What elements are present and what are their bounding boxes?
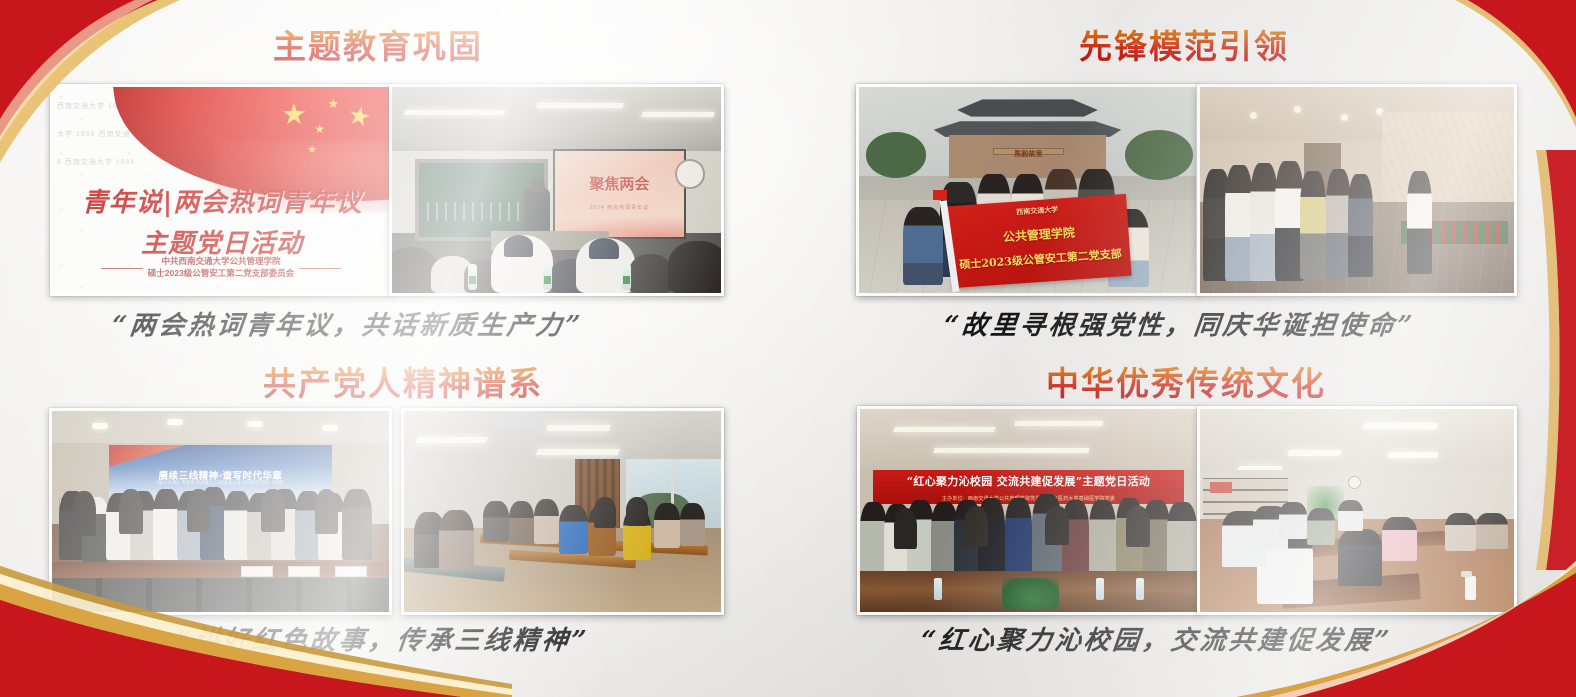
- poster-org-line1: 中共西南交通大学公共管理学院: [53, 255, 389, 267]
- visitor-figure: [1348, 174, 1373, 277]
- section-caption-4: “红心聚力沁校园，交流共建促发展”: [919, 620, 1394, 657]
- banner-line1: 公共管理学院: [949, 220, 1128, 249]
- spray-bottle: [1465, 576, 1476, 600]
- visitor-figure: [1225, 165, 1253, 280]
- screen-subtitle: 2024 两会热词青年议: [555, 204, 683, 211]
- wall-clock-icon: [1348, 476, 1361, 489]
- flag-star-icon: ★: [345, 101, 373, 131]
- slide-canvas: 主题教育巩固 先锋模范引领 共产党人精神谱系 中华优秀传统文化 西南交通大学 1…: [0, 0, 1576, 697]
- person-figure: [860, 502, 887, 575]
- ceiling-light: [415, 437, 488, 443]
- audience-group: [392, 219, 721, 293]
- lecture-hall-scene: [404, 411, 721, 612]
- person-figure: [903, 207, 943, 285]
- water-bottle: [934, 578, 942, 600]
- chair-row: [52, 578, 389, 612]
- audience-head: [504, 235, 534, 257]
- downlight: [1294, 106, 1301, 113]
- visitor-figure: [1250, 163, 1278, 280]
- poster-artwork: 西南交通大学 1896 西南交通大学 1896 西南交通大学 1896 西南交通…: [53, 87, 389, 293]
- ceiling-light: [536, 103, 623, 108]
- visitor-figure: [1338, 500, 1363, 530]
- student-figure: [483, 501, 508, 541]
- group-banner: 西南交通大学 公共管理学院 硕士2023级公管安工第二党支部: [947, 194, 1131, 289]
- person-figure: [315, 489, 339, 533]
- tree: [1125, 130, 1192, 179]
- exhibition-hall-scene: [1200, 87, 1514, 293]
- person-figure: [119, 489, 143, 533]
- staff-figure: [1279, 502, 1307, 539]
- banner-group-photo: “红心聚力沁校园 交流共建促发展”主题党日活动 主办单位：西南交通大学公共管理学…: [857, 406, 1200, 615]
- section-caption-3: “讲好红色故事，传承三线精神”: [174, 620, 591, 657]
- banner-line2: 硕士2023级公管安工第二党支部: [951, 245, 1130, 273]
- person-figure: [1167, 502, 1197, 575]
- person-figure: [1126, 506, 1150, 547]
- section-title-1: 主题教育巩固: [273, 20, 483, 68]
- screen-red-ribbon: [109, 445, 185, 466]
- banner-group-scene: “红心聚力沁校园 交流共建促发展”主题党日活动 主办单位：西南交通大学公共管理学…: [860, 409, 1197, 612]
- student-figure: [626, 497, 648, 525]
- poster-headline: 青年说|两会热词青年议 主题党日活动: [69, 182, 375, 260]
- tree: [866, 132, 927, 177]
- person-figure: [1089, 500, 1116, 575]
- screen-subtitle: 《复兴文库》专题系列讲座之三线建设与读书月系列活动（成都）: [109, 480, 331, 486]
- temple-roof-upper: [957, 99, 1098, 116]
- temple-plaque: 陈毅故里: [993, 148, 1064, 155]
- wall-clock-icon: [675, 159, 705, 189]
- student-figure: [439, 510, 474, 570]
- poster-org-line2: 硕士2023级公管安工第二党支部委员会: [53, 267, 389, 279]
- temple-building: 陈毅故里: [930, 99, 1125, 177]
- ceiling-light: [1362, 423, 1439, 429]
- poster-organization: 中共西南交通大学公共管理学院 硕士2023级公管安工第二党支部委员会: [53, 255, 389, 279]
- visitor-figure: [1275, 161, 1303, 280]
- tour-guide-figure: [1407, 171, 1432, 274]
- section-caption-2: “故里寻根强党性，同庆华诞担使命”: [942, 305, 1417, 342]
- flag-star-icon: ★: [307, 145, 317, 156]
- water-bottle: [622, 264, 631, 290]
- visitor-figure: [1476, 513, 1507, 550]
- flag-star-icon: ★: [327, 97, 339, 110]
- person-figure: [187, 489, 211, 531]
- health-service-scene: [1200, 409, 1514, 612]
- section-title-2: 先锋模范引领: [1079, 20, 1289, 68]
- person-figure: [261, 489, 285, 531]
- water-bottle: [468, 264, 477, 290]
- name-card: [241, 566, 273, 577]
- visitor-figure: [1326, 169, 1351, 278]
- person-figure: [964, 506, 988, 547]
- ceiling: [392, 87, 721, 155]
- person-figure: [894, 508, 918, 549]
- lecture-group-photo: 赓续三线精神·谱写时代华章 《复兴文库》专题系列讲座之三线建设与读书月系列活动（…: [49, 408, 392, 615]
- exhibition-hall-visit-photo: [1197, 84, 1517, 296]
- section-title-3: 共产党人精神谱系: [263, 357, 543, 405]
- water-bottle: [1096, 578, 1104, 600]
- water-bottle: [543, 264, 552, 290]
- ceiling-light: [404, 110, 505, 115]
- name-card: [288, 566, 320, 577]
- ceiling: [1200, 409, 1514, 474]
- health-service-activity-photo: [1197, 406, 1517, 615]
- visitor-figure: [1338, 529, 1382, 586]
- screen-title: 聚焦两会: [555, 173, 683, 194]
- student-figure: [654, 503, 679, 547]
- ceiling-light: [1287, 450, 1343, 456]
- ceiling-light: [934, 448, 1090, 453]
- relief-sculpture-wall: [1382, 112, 1514, 211]
- theme-party-day-poster: 西南交通大学 1896 西南交通大学 1896 西南交通大学 1896 西南交通…: [50, 84, 392, 296]
- projector: [499, 413, 539, 427]
- audience-head: [629, 254, 672, 293]
- section-caption-1: “两会热词青年议，共话新质生产力”: [110, 305, 585, 342]
- water-bottle: [1136, 578, 1144, 600]
- temple-plaque-text: 陈毅故里: [994, 149, 1063, 154]
- student-figure: [509, 501, 534, 543]
- person-figure: [1045, 506, 1069, 545]
- ceiling-light: [1388, 452, 1440, 458]
- student-figure: [680, 503, 705, 545]
- banner-title: “红心聚力沁校园 交流共建促发展”主题党日活动: [873, 473, 1183, 489]
- ceiling-light: [536, 449, 621, 455]
- person-figure: [1005, 498, 1032, 575]
- visitor-figure: [1300, 171, 1325, 278]
- flag-star-icon: ★: [314, 123, 325, 135]
- person-figure: [342, 489, 372, 559]
- classroom-presentation-photo: 聚焦两会 2024 两会热词青年议: [389, 84, 724, 296]
- ceiling-light: [641, 112, 715, 117]
- small-national-flag: [933, 190, 947, 200]
- table-plant: [1002, 578, 1059, 610]
- flag-star-icon: ★: [281, 101, 307, 130]
- downlight: [1250, 112, 1257, 119]
- downlight: [92, 423, 108, 429]
- audience-head: [668, 241, 721, 293]
- ceiling-light: [893, 427, 996, 432]
- ceiling-light: [545, 425, 611, 431]
- visitor-figure: [1445, 513, 1476, 552]
- student-figure: [594, 497, 616, 527]
- visitor-figure: [1382, 517, 1417, 562]
- temple-scene: 陈毅故里 西南交通大学 公共管理学院 硕士2023级公管安工第二党支部: [859, 87, 1196, 293]
- section-title-4: 中华优秀传统文化: [1046, 357, 1326, 405]
- downlight: [247, 421, 263, 427]
- downlight: [167, 419, 183, 425]
- person-figure: [72, 491, 96, 535]
- ceiling-light: [1014, 421, 1103, 426]
- classroom-scene: 聚焦两会 2024 两会热词青年议: [392, 87, 721, 293]
- downlight: [322, 425, 338, 431]
- student-figure: [559, 505, 588, 553]
- memorial-hall-group-photo: 陈毅故里 西南交通大学 公共管理学院 硕士2023级公管安工第二党支部: [856, 84, 1199, 296]
- lecture-hall-audience-photo: [401, 408, 724, 615]
- student-figure: [534, 499, 559, 543]
- name-card: [335, 566, 367, 577]
- group-photo-scene: 赓续三线精神·谱写时代华章 《复兴文库》专题系列讲座之三线建设与读书月系列活动（…: [52, 411, 389, 612]
- ribbon-right-edge: [1512, 150, 1576, 570]
- ceiling: [860, 409, 1197, 470]
- visitor-figure: [1307, 508, 1335, 545]
- audience-head: [589, 238, 619, 259]
- poster-headline-line1: 青年说|两会热词青年议: [69, 182, 375, 219]
- temple-facade: 陈毅故里: [949, 135, 1105, 177]
